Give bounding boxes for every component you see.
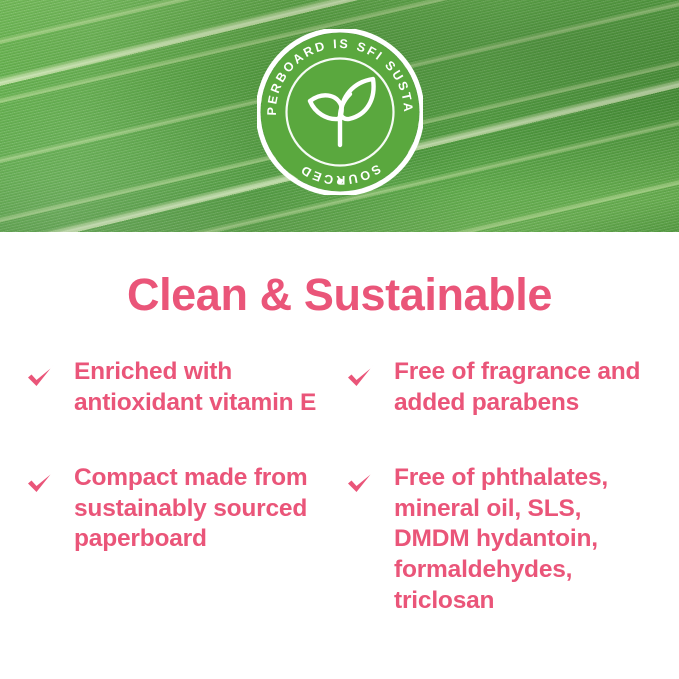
checkmark-icon (346, 468, 376, 498)
page-title: Clean & Sustainable (0, 272, 679, 317)
sfi-sustainability-badge: ALL PAPERBOARD IS SFI SUSTAINABLY SOURCE… (257, 29, 423, 195)
feature-item: Free of phthalates, mineral oil, SLS, DM… (0, 463, 679, 617)
content-area: Clean & Sustainable Enriched with antiox… (0, 232, 679, 679)
product-feature-infographic: ALL PAPERBOARD IS SFI SUSTAINABLY SOURCE… (0, 0, 679, 679)
feature-text: Free of phthalates, mineral oil, SLS, DM… (394, 463, 649, 617)
feature-row: Compact made from sustainably sourced pa… (0, 463, 679, 617)
feature-row: Enriched with antioxidant vitamin E Free… (0, 357, 679, 419)
feature-column-right: Free of phthalates, mineral oil, SLS, DM… (340, 463, 679, 617)
feature-text: Free of fragrance and added parabens (394, 357, 649, 419)
leaf-background-banner: ALL PAPERBOARD IS SFI SUSTAINABLY SOURCE… (0, 0, 679, 232)
features-list: Enriched with antioxidant vitamin E Free… (0, 357, 679, 617)
feature-column-right: Free of fragrance and added parabens (340, 357, 679, 419)
checkmark-icon (346, 362, 376, 392)
badge-separator-dot (337, 178, 342, 183)
feature-item: Free of fragrance and added parabens (0, 357, 679, 419)
